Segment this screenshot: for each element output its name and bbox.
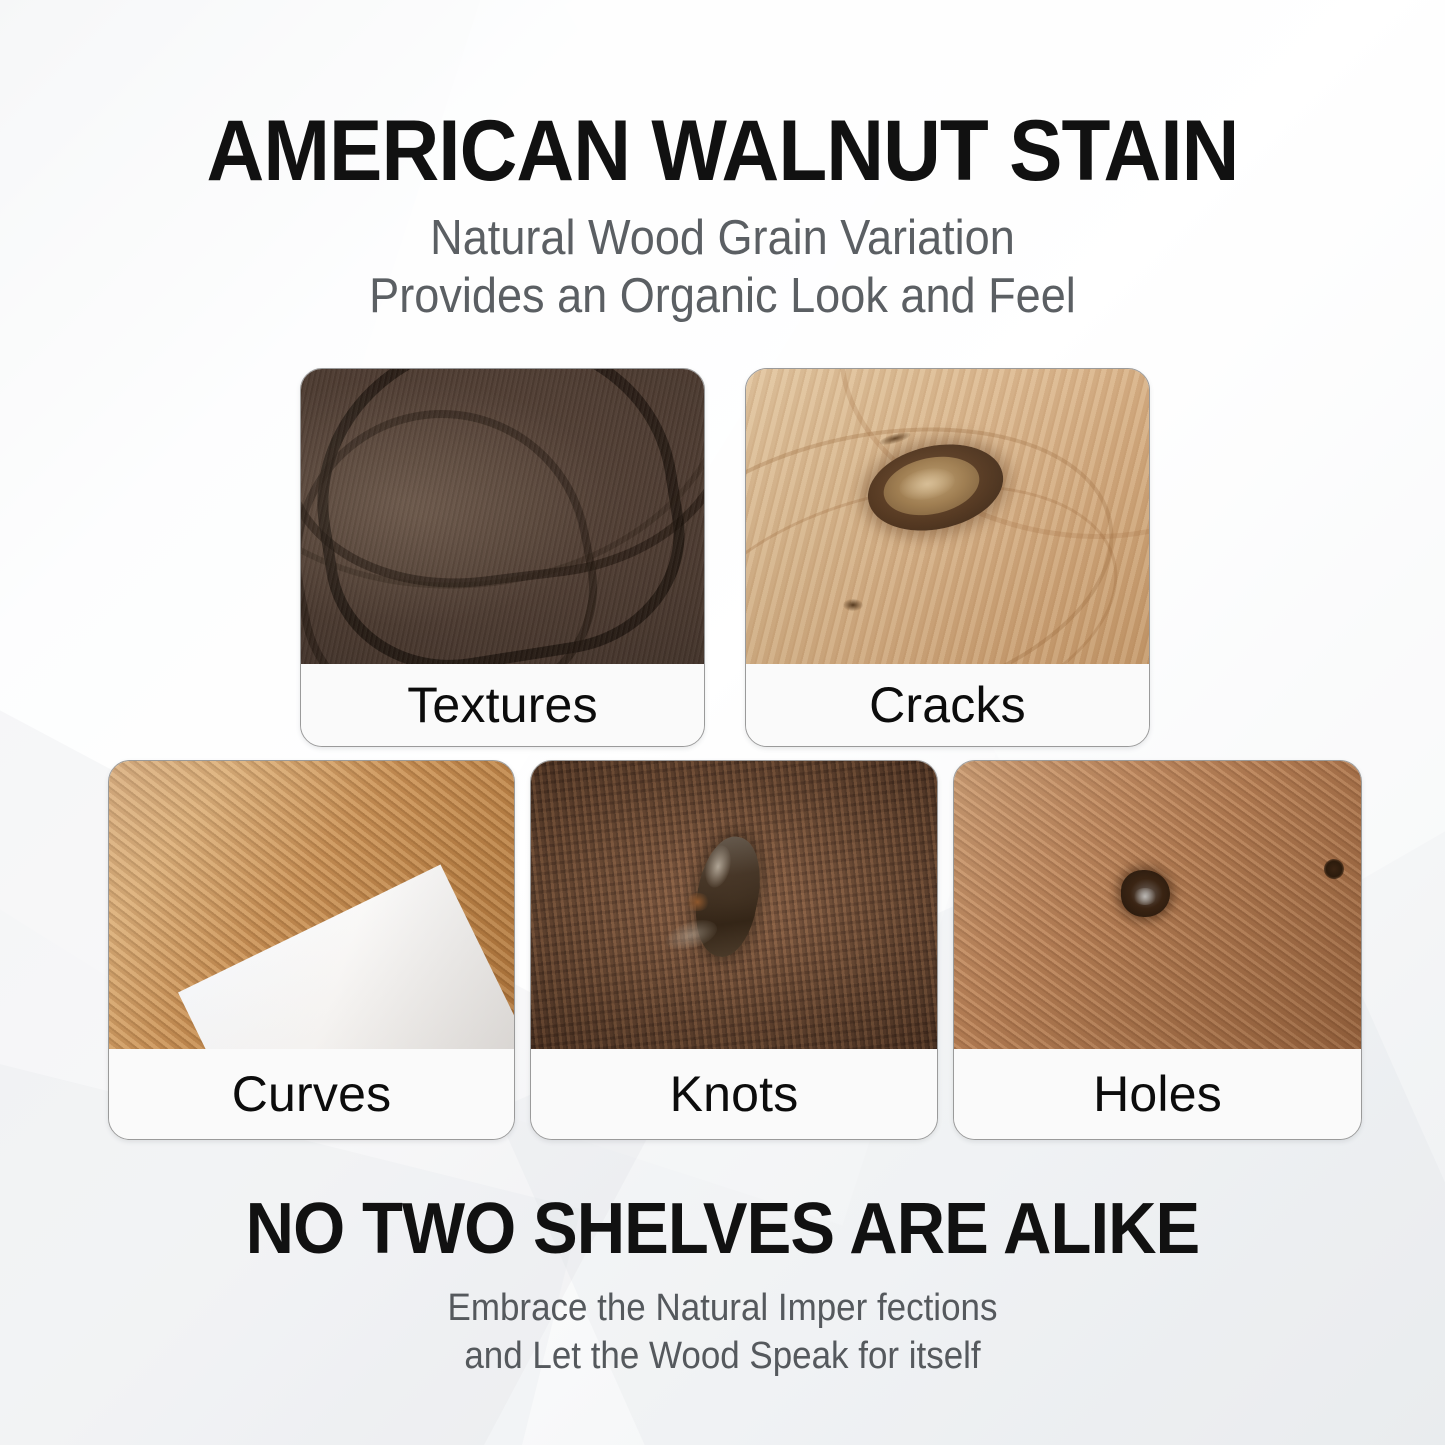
knots-label: Knots: [670, 1065, 799, 1123]
feature-card-textures[interactable]: Textures: [300, 368, 705, 747]
wood-shading-overlay: [301, 369, 704, 664]
wood-shading-overlay: [746, 369, 1149, 664]
holes-photo: [954, 761, 1361, 1049]
feature-card-curves[interactable]: Curves: [108, 760, 515, 1140]
header-subtitle-line-1: Natural Wood Grain Variation: [58, 210, 1387, 268]
feature-card-holes[interactable]: Holes: [953, 760, 1362, 1140]
footer-subtitle-line-1: Embrace the Natural Imper fections: [58, 1285, 1387, 1333]
wood-swatch-knots: [531, 761, 937, 1049]
cracks-label: Cracks: [869, 676, 1026, 734]
wood-swatch-cracks: [746, 369, 1149, 664]
holes-label-bar: Holes: [954, 1049, 1361, 1139]
wood-swatch-holes: [954, 761, 1361, 1049]
feature-card-cracks[interactable]: Cracks: [745, 368, 1150, 747]
header-subtitle-line-2: Provides an Organic Look and Feel: [58, 268, 1387, 326]
wood-shading-overlay: [954, 761, 1361, 1049]
knots-label-bar: Knots: [531, 1049, 937, 1139]
curves-label: Curves: [232, 1065, 392, 1123]
footer-subtitle: Embrace the Natural Imper fections and L…: [58, 1285, 1387, 1380]
textures-label-bar: Textures: [301, 664, 704, 746]
wood-shading-overlay: [109, 761, 514, 1049]
cracks-photo: [746, 369, 1149, 664]
textures-photo: [301, 369, 704, 664]
header-subtitle: Natural Wood Grain Variation Provides an…: [58, 210, 1387, 326]
wood-swatch-textures: [301, 369, 704, 664]
holes-label: Holes: [1093, 1065, 1222, 1123]
feature-card-knots[interactable]: Knots: [530, 760, 938, 1140]
curves-photo: [109, 761, 514, 1049]
footer-subtitle-line-2: and Let the Wood Speak for itself: [58, 1333, 1387, 1381]
wood-shading-overlay: [531, 761, 937, 1049]
wood-swatch-curves: [109, 761, 514, 1049]
knots-photo: [531, 761, 937, 1049]
textures-label: Textures: [407, 676, 598, 734]
cracks-label-bar: Cracks: [746, 664, 1149, 746]
page-title: AMERICAN WALNUT STAIN: [51, 108, 1395, 194]
footer-title: NO TWO SHELVES ARE ALIKE: [51, 1193, 1395, 1265]
curves-label-bar: Curves: [109, 1049, 514, 1139]
